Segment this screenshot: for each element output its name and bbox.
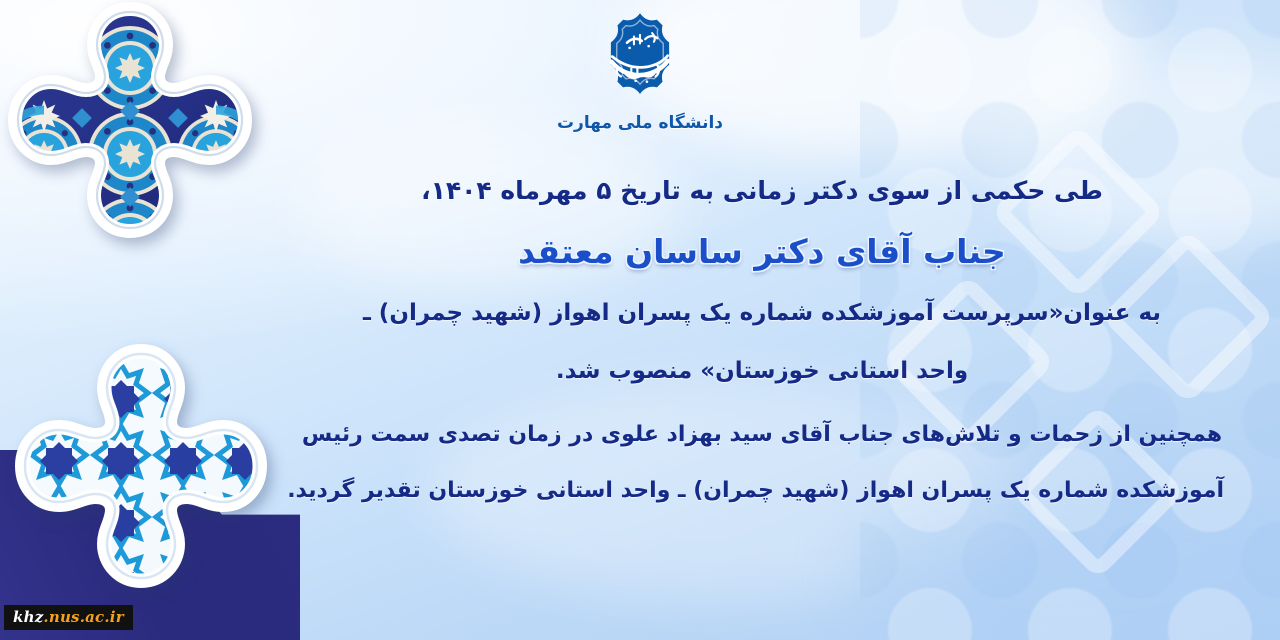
logo-caption: دانشگاه ملی مهارت (540, 113, 740, 133)
university-logo: دانشگاه ملی مهارت (540, 8, 740, 133)
watermark-prefix: khz (13, 608, 43, 626)
appreciation-line-1: همچنین از زحمات و تلاش‌های جناب آقای سید… (300, 418, 1224, 452)
announcement-text: طی حکمی از سوی دکتر زمانی به تاریخ ۵ مهر… (0, 172, 1280, 508)
site-watermark: khz.nus.ac.ir (4, 605, 133, 630)
appointment-role-line-2: واحد استانی خوزستان» منصوب شد. (300, 354, 1224, 390)
appointment-role-line-1: به عنوان«سرپرست آموزشکده شماره یک پسران … (300, 296, 1224, 332)
university-shield-logo-icon (588, 8, 692, 112)
appreciation-line-2: آموزشکده شماره یک پسران اهواز (شهید چمرا… (300, 474, 1224, 508)
appointee-name-line: جناب آقای دکتر ساسان معتقد (300, 227, 1224, 277)
poster-canvas: دانشگاه ملی مهارت طی حکمی از سوی دکتر زم… (0, 0, 1280, 640)
appointment-date-line: طی حکمی از سوی دکتر زمانی به تاریخ ۵ مهر… (300, 172, 1224, 211)
watermark-domain: .nus.ac.ir (43, 608, 123, 626)
